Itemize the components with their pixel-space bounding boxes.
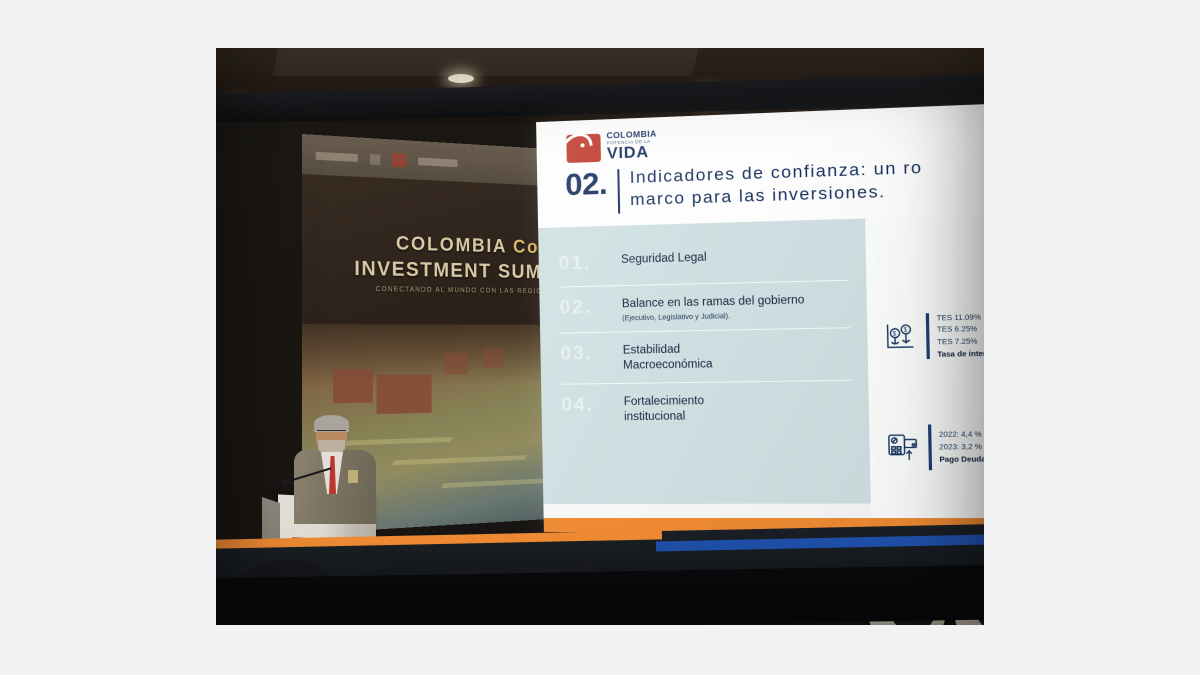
stat-block-debt-payment: 2022: 4,4 % 2023: 3,2 % Pago Deuda bbox=[884, 424, 984, 470]
sponsor-logo bbox=[316, 152, 358, 162]
stat-line: TES 6.25% bbox=[937, 324, 978, 334]
indicators-list: 01. Seguridad Legal 02. Balance en las r… bbox=[558, 235, 852, 434]
list-item-number: 01. bbox=[559, 251, 608, 277]
floor-marking bbox=[392, 455, 527, 465]
slide-title-row: 02. Indicadores de confianza: un ro marc… bbox=[565, 157, 923, 216]
debt-payment-icon bbox=[884, 430, 921, 465]
title-divider bbox=[617, 169, 620, 213]
list-item-label: Fortalecimiento institucional bbox=[624, 394, 705, 425]
ceiling-panel bbox=[272, 48, 699, 76]
stat-divider bbox=[928, 424, 932, 470]
logo-text: COLOMBIA POTENCIA DE LA VIDA bbox=[606, 129, 657, 162]
colombia-potencia-logo: COLOMBIA POTENCIA DE LA VIDA bbox=[566, 129, 657, 164]
presentation-slide: COLOMBIA POTENCIA DE LA VIDA 02. Indicad… bbox=[536, 103, 984, 533]
crate bbox=[377, 374, 432, 414]
list-item-body: Estabilidad Macroeconómica bbox=[623, 340, 713, 373]
stat-line: 2022: 4,4 % bbox=[939, 430, 982, 440]
sponsor-logo bbox=[370, 153, 380, 164]
ceiling-light bbox=[448, 74, 474, 83]
stat-label: Tasa de inter bbox=[937, 348, 984, 361]
list-item-body: Fortalecimiento institucional bbox=[624, 392, 705, 425]
banner-co-accent: Co bbox=[513, 237, 539, 258]
colombia-swoosh-icon bbox=[566, 133, 601, 162]
stat-line: TES 11.09% bbox=[937, 312, 981, 322]
list-item-label: Balance en las ramas del gobierno bbox=[622, 293, 805, 312]
crate bbox=[333, 369, 373, 403]
stat-line: TES 7.25% bbox=[937, 336, 978, 346]
stat-values: 2022: 4,4 % 2023: 3,2 % Pago Deuda bbox=[939, 428, 984, 465]
list-item: 01. Seguridad Legal bbox=[558, 235, 849, 286]
list-item-body: Seguridad Legal bbox=[621, 249, 707, 268]
list-item-number: 04. bbox=[561, 393, 610, 418]
list-item-label: Estabilidad Macroeconómica bbox=[623, 342, 713, 373]
conference-photograph: COLOMBIA Co INVESTMENT SUMMIT CONECTANDO… bbox=[216, 48, 984, 625]
slide-section-number: 02. bbox=[565, 168, 607, 201]
stat-line: 2023: 3,2 % bbox=[939, 442, 982, 452]
slide-header: COLOMBIA POTENCIA DE LA VIDA 02. Indicad… bbox=[536, 103, 984, 228]
crate bbox=[444, 353, 467, 374]
speaker-person bbox=[290, 418, 378, 522]
stat-divider bbox=[926, 314, 930, 360]
interest-rate-icon: $ $ bbox=[882, 319, 919, 355]
projection-screen: COLOMBIA POTENCIA DE LA VIDA 02. Indicad… bbox=[536, 103, 984, 533]
slide-title: Indicadores de confianza: un ro marco pa… bbox=[630, 157, 924, 211]
list-item-body: Balance en las ramas del gobierno (Ejecu… bbox=[622, 291, 805, 323]
list-item: 04. Fortalecimiento institucional bbox=[561, 380, 852, 434]
sponsor-logo bbox=[418, 157, 458, 167]
list-item-sublabel: (Ejecutivo, Legislativo y Judicial). bbox=[622, 310, 805, 323]
list-item-number: 03. bbox=[560, 342, 609, 368]
crate bbox=[483, 349, 504, 368]
screenshot-root: COLOMBIA Co INVESTMENT SUMMIT CONECTANDO… bbox=[0, 0, 1200, 675]
stat-values: TES 11.09% TES 6.25% TES 7.25% Tasa de i… bbox=[937, 311, 984, 361]
list-item: 03. Estabilidad Macroeconómica bbox=[560, 328, 851, 384]
stats-panel: $ $ TES 11.09% TES 6.25% TES 7.25% Tasa … bbox=[865, 214, 984, 533]
list-item-label: Seguridad Legal bbox=[621, 251, 707, 268]
banner-colombia-text: COLOMBIA bbox=[396, 233, 507, 257]
stat-block-interest-rate: $ $ TES 11.09% TES 6.25% TES 7.25% Tasa … bbox=[882, 311, 984, 362]
speaker-badge bbox=[348, 470, 358, 483]
slide-body: 01. Seguridad Legal 02. Balance en las r… bbox=[538, 214, 984, 533]
glasses-icon bbox=[317, 430, 346, 437]
sponsor-logo-red bbox=[392, 153, 406, 167]
list-item: 02. Balance en las ramas del gobierno (E… bbox=[559, 279, 850, 333]
list-item-number: 02. bbox=[559, 295, 608, 321]
indicators-panel: 01. Seguridad Legal 02. Balance en las r… bbox=[538, 218, 871, 504]
stat-label: Pago Deuda bbox=[939, 453, 984, 465]
logo-line-3: VIDA bbox=[607, 145, 658, 163]
